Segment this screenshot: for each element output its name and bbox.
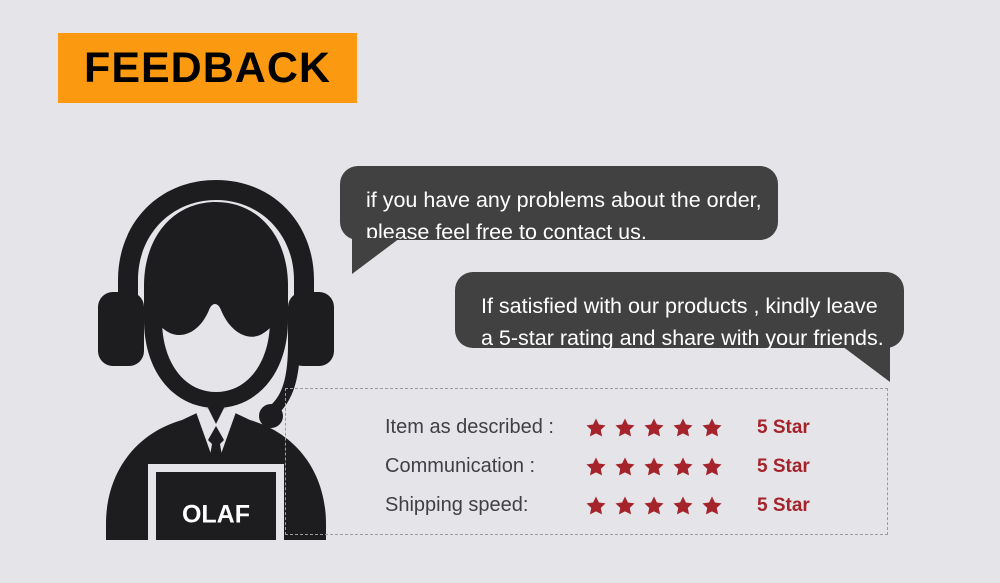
rating-stars-item-as-described — [585, 417, 745, 439]
speech-bubble-tail-right — [842, 346, 890, 382]
star-icon — [672, 417, 694, 439]
bubble-1-line-1: if you have any problems about the order… — [366, 184, 752, 216]
headset-earcup-left — [98, 292, 144, 366]
star-icon — [701, 417, 723, 439]
rating-row: Shipping speed: 5 Star — [385, 486, 855, 525]
rating-value-item-as-described: 5 Star — [745, 417, 810, 439]
rating-row: Item as described : 5 Star — [385, 408, 855, 447]
star-icon — [614, 417, 636, 439]
laptop-brand-label: OLAF — [182, 501, 250, 529]
rating-label-shipping-speed: Shipping speed: — [385, 494, 585, 517]
bubble-2-line-2: a 5-star rating and share with your frie… — [481, 322, 878, 354]
star-icon — [585, 495, 607, 517]
star-icon — [585, 456, 607, 478]
rating-row: Communication : 5 Star — [385, 447, 855, 486]
star-icon — [614, 495, 636, 517]
rating-value-communication: 5 Star — [745, 456, 810, 478]
headset-mic-tip — [259, 404, 283, 428]
page-title: FEEDBACK — [84, 47, 331, 90]
rating-label-communication: Communication : — [385, 455, 585, 478]
star-icon — [585, 417, 607, 439]
star-icon — [643, 417, 665, 439]
star-icon — [672, 456, 694, 478]
rating-label-item-as-described: Item as described : — [385, 416, 585, 439]
rating-value-shipping-speed: 5 Star — [745, 495, 810, 517]
speech-bubble-rating: If satisfied with our products , kindly … — [455, 272, 904, 348]
bubble-2-line-1: If satisfied with our products , kindly … — [481, 290, 878, 322]
star-icon — [672, 495, 694, 517]
ratings-list: Item as described : 5 Star Communication… — [385, 408, 855, 525]
star-icon — [701, 495, 723, 517]
star-icon — [643, 456, 665, 478]
bubble-1-line-2: please feel free to contact us. — [366, 216, 752, 248]
rating-stars-communication — [585, 456, 745, 478]
speech-bubble-tail-left — [352, 238, 400, 274]
star-icon — [614, 456, 636, 478]
feedback-banner: FEEDBACK — [58, 33, 357, 103]
star-icon — [701, 456, 723, 478]
feedback-page: FEEDBACK OLAF — [0, 0, 1000, 583]
rating-stars-shipping-speed — [585, 495, 745, 517]
speech-bubble-contact: if you have any problems about the order… — [340, 166, 778, 240]
star-icon — [643, 495, 665, 517]
